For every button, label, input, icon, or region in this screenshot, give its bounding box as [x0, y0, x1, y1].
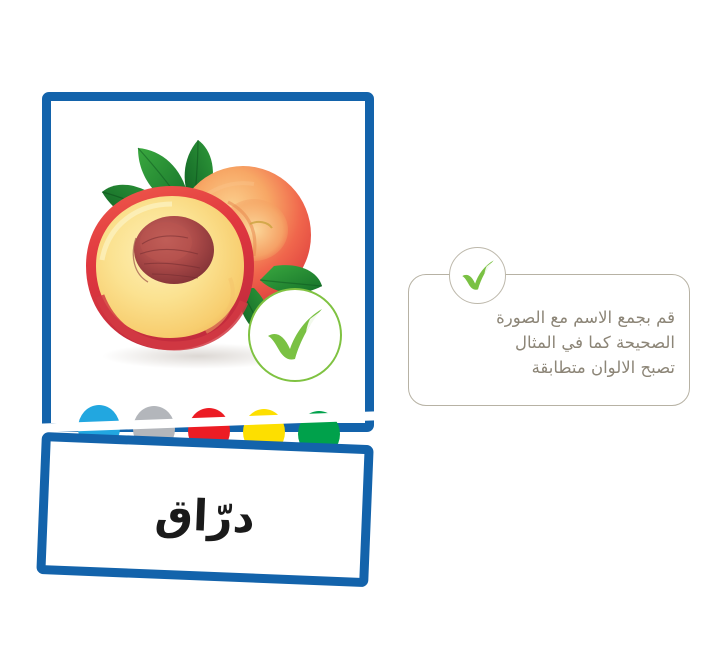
- word-flashcard[interactable]: درّاق: [36, 432, 373, 587]
- instruction-line-3: تصبح الالوان متطابقة: [409, 355, 675, 380]
- word-label: درّاق: [154, 493, 256, 540]
- instruction-check-badge: [449, 247, 506, 304]
- instruction-box: قم بجمع الاسم مع الصورة الصحيحة كما في ا…: [408, 274, 690, 406]
- card-check-badge: [248, 288, 342, 382]
- instruction-text: قم بجمع الاسم مع الصورة الصحيحة كما في ا…: [409, 305, 675, 380]
- image-flashcard[interactable]: [42, 92, 374, 432]
- instruction-line-2: الصحيحة كما في المثال: [409, 330, 675, 355]
- check-icon: [460, 259, 496, 292]
- flashcard-canvas: درّاق قم بجمع الاسم مع الصورة الصحيحة كم…: [0, 0, 720, 645]
- check-icon: [264, 307, 326, 363]
- instruction-line-1: قم بجمع الاسم مع الصورة: [409, 305, 675, 330]
